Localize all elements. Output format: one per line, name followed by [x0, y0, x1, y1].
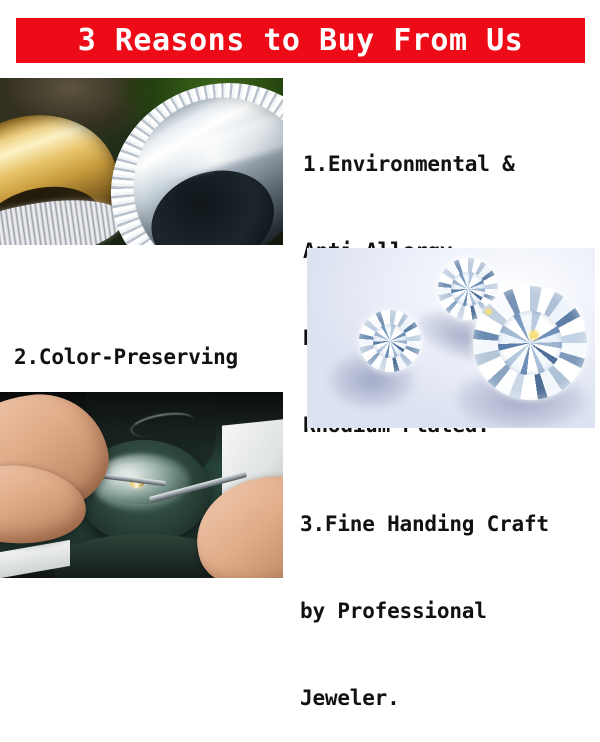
diamonds-photo [307, 248, 595, 428]
diamond-large [473, 286, 587, 400]
diamond-sparkle-2 [485, 308, 492, 315]
reason-3-text: 3.Fine Handing Craft by Professional Jew… [300, 452, 549, 742]
jeweler-photo [0, 392, 283, 578]
reason-2-line-1: 2.Color-Preserving [14, 343, 238, 372]
reason-3-line-2: by Professional [300, 597, 549, 626]
header-banner: 3 Reasons to Buy From Us [16, 18, 585, 63]
rings-photo [0, 78, 283, 245]
diamond-small [359, 310, 421, 372]
reason-3-line-3: Jeweler. [300, 684, 549, 713]
reason-3-line-1: 3.Fine Handing Craft [300, 510, 549, 539]
diamond-sparkle-1 [529, 330, 539, 340]
page-title: 3 Reasons to Buy From Us [78, 26, 523, 56]
reason-1-line-1: 1.Environmental & [303, 150, 515, 179]
